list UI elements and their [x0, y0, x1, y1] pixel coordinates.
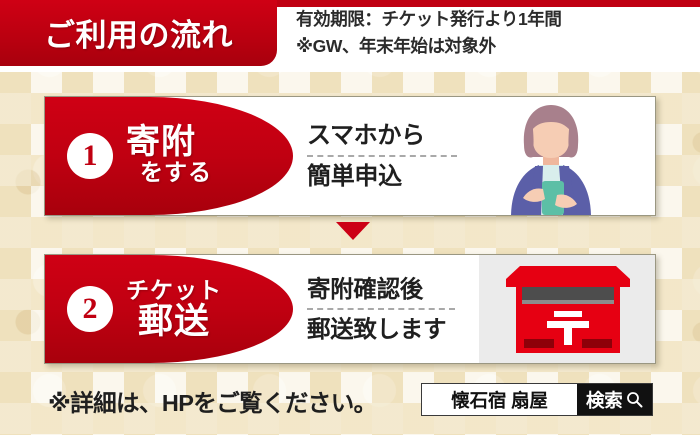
search-button[interactable]: 検索	[577, 384, 652, 415]
search-query-text: 懐石宿 扇屋	[451, 387, 547, 413]
step-1-label-secondary: をする	[126, 161, 212, 186]
step-2-label: チケット 郵送	[126, 279, 222, 340]
magnifier-icon	[626, 391, 643, 408]
step-2-description-line-1: 寄附確認後	[307, 273, 423, 305]
step-2-label-primary: 郵送	[126, 304, 222, 340]
search-widget[interactable]: 懐石宿 扇屋 検索	[421, 383, 653, 416]
down-arrow-icon	[336, 222, 370, 240]
header-note-exclusions: ※GW、年末年始は対象外	[296, 33, 696, 60]
step-1-description-line-1: スマホから	[307, 119, 425, 152]
step-2-number: 2	[67, 286, 113, 332]
footer-note: ※詳細は、HPをご覧ください。	[48, 384, 377, 418]
promo-graphic: ご利用の流れ 有効期限：チケット発行より1年間 ※GW、年末年始は対象外 1 寄…	[0, 0, 700, 435]
search-button-label: 検索	[586, 387, 623, 413]
step-card-2: 2 チケット 郵送 寄附確認後 郵送致します	[44, 254, 656, 364]
step-1-number: 1	[67, 133, 113, 179]
step-2-description-line-2: 郵送致します	[307, 313, 446, 345]
header-banner: ご利用の流れ	[0, 0, 277, 66]
step-2-illustration-panel	[479, 255, 656, 363]
header-note-expiry: 有効期限：チケット発行より1年間	[296, 6, 696, 33]
woman-with-smartphone-icon	[491, 97, 611, 216]
header-notes: 有効期限：チケット発行より1年間 ※GW、年末年始は対象外	[296, 6, 696, 60]
step-1-description-line-2: 簡単申込	[307, 160, 402, 193]
step-1-label: 寄附 をする	[126, 126, 212, 186]
step-2-label-secondary: チケット	[126, 279, 222, 304]
step-1-description: スマホから 簡単申込	[307, 97, 457, 215]
step-2-description: 寄附確認後 郵送致します	[307, 255, 455, 363]
japanese-mailbox-icon	[498, 261, 638, 357]
page-title: ご利用の流れ	[44, 10, 233, 55]
step-2-text-divider	[307, 308, 455, 310]
header: ご利用の流れ 有効期限：チケット発行より1年間 ※GW、年末年始は対象外	[0, 0, 700, 72]
step-2-tab: 2 チケット 郵送	[45, 255, 293, 363]
step-1-label-primary: 寄附	[126, 126, 212, 161]
step-card-1: 1 寄附 をする スマホから 簡単申込	[44, 96, 656, 216]
step-1-text-divider	[307, 155, 457, 157]
search-input[interactable]: 懐石宿 扇屋	[422, 384, 577, 415]
step-1-tab: 1 寄附 をする	[45, 97, 293, 215]
